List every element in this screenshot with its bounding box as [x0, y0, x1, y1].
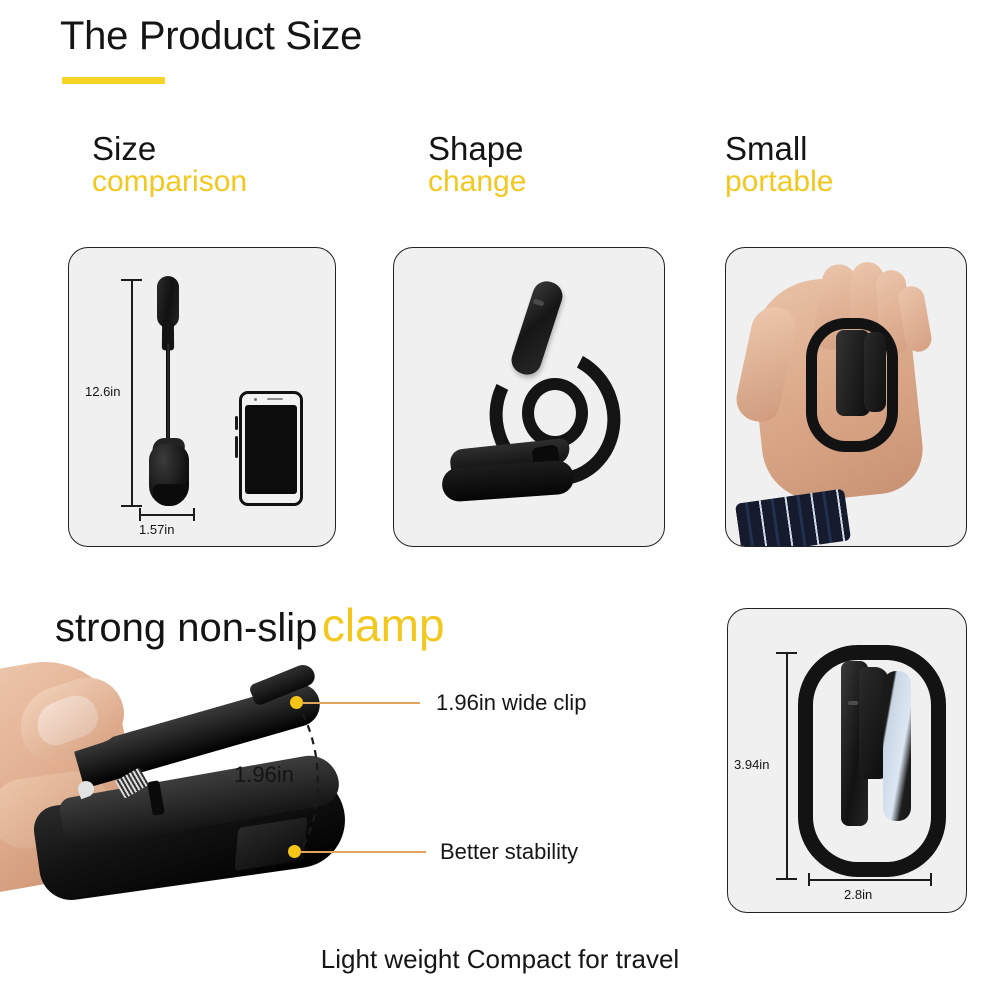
dimension-label-width: 1.57in — [139, 522, 174, 537]
page-title: The Product Size — [60, 14, 362, 59]
phone-camera — [254, 398, 257, 401]
column-heading-size-line1: Size — [92, 132, 247, 165]
dimension-cap-top — [121, 279, 142, 281]
dimension-cap-left — [139, 508, 141, 521]
product-infographic: The Product Size Size comparison Shape c… — [0, 0, 1000, 1000]
callout-line-wide-clip — [303, 702, 420, 704]
dimension-line-width — [808, 879, 932, 881]
panel-small-portable-art — [726, 248, 966, 546]
dimension-line-height — [131, 280, 133, 506]
lamp-gooseneck-loop — [522, 378, 588, 448]
column-heading-shape: Shape change — [428, 132, 526, 200]
dimension-label-height: 12.6in — [85, 384, 120, 399]
dimension-cap-bottom — [776, 878, 797, 880]
folded-lamp-panel — [864, 332, 886, 412]
callout-line-better-stability — [301, 851, 426, 853]
column-heading-small-line1: Small — [725, 132, 833, 165]
phone-volume-button — [235, 436, 238, 458]
clamp-heading-black: strong non-slip — [55, 606, 317, 650]
column-heading-size-line2: comparison — [92, 165, 247, 200]
column-heading-small-line2: portable — [725, 165, 833, 200]
dimension-cap-right — [930, 873, 932, 886]
column-heading-size: Size comparison — [92, 132, 247, 200]
callout-dot-better-stability — [288, 845, 301, 858]
smartphone-reference — [239, 391, 303, 506]
callout-label-wide-clip: 1.96in wide clip — [436, 690, 586, 716]
panel-folded-art: 3.94in 2.8in — [728, 609, 966, 912]
dimension-cap-top — [776, 652, 797, 654]
clamp-arc-label: 1.96in — [234, 762, 294, 788]
panel-shape-change-art — [394, 248, 664, 546]
panel-shape-change — [393, 247, 665, 547]
panel-folded-dimensions: 3.94in 2.8in — [727, 608, 967, 913]
panel-small-portable — [725, 247, 967, 547]
dimension-cap-bottom — [121, 505, 142, 507]
column-heading-shape-line1: Shape — [428, 132, 526, 165]
dimension-cap-right — [193, 508, 195, 521]
folded-lamp — [806, 318, 892, 436]
phone-speaker — [267, 398, 283, 400]
folded-body-detail — [848, 701, 858, 705]
title-underline-rule — [62, 77, 165, 84]
phone-side-button — [235, 416, 238, 430]
callout-dot-wide-clip — [290, 696, 303, 709]
lamp-clip-lip — [153, 484, 185, 506]
dimension-line-height — [786, 653, 788, 879]
phone-screen — [245, 405, 297, 494]
dimension-label-width: 2.8in — [844, 887, 872, 902]
footer-caption: Light weight Compact for travel — [0, 944, 1000, 975]
clamp-section-heading: strong non-slip clamp — [55, 598, 445, 652]
column-heading-small: Small portable — [725, 132, 833, 200]
dimension-cap-left — [808, 873, 810, 886]
panel-size-comparison-art: 12.6in 1.57in — [69, 248, 335, 546]
clamp-photo — [0, 655, 420, 915]
callout-label-better-stability: Better stability — [440, 839, 578, 865]
folded-lamp-panel — [883, 671, 911, 821]
dimension-line-width — [139, 514, 195, 516]
column-heading-shape-line2: change — [428, 165, 526, 200]
plaid-shirt-cuff — [735, 489, 851, 547]
clamp-heading-yellow: clamp — [322, 599, 445, 651]
dimension-label-height: 3.94in — [734, 757, 769, 772]
panel-size-comparison: 12.6in 1.57in — [68, 247, 336, 547]
